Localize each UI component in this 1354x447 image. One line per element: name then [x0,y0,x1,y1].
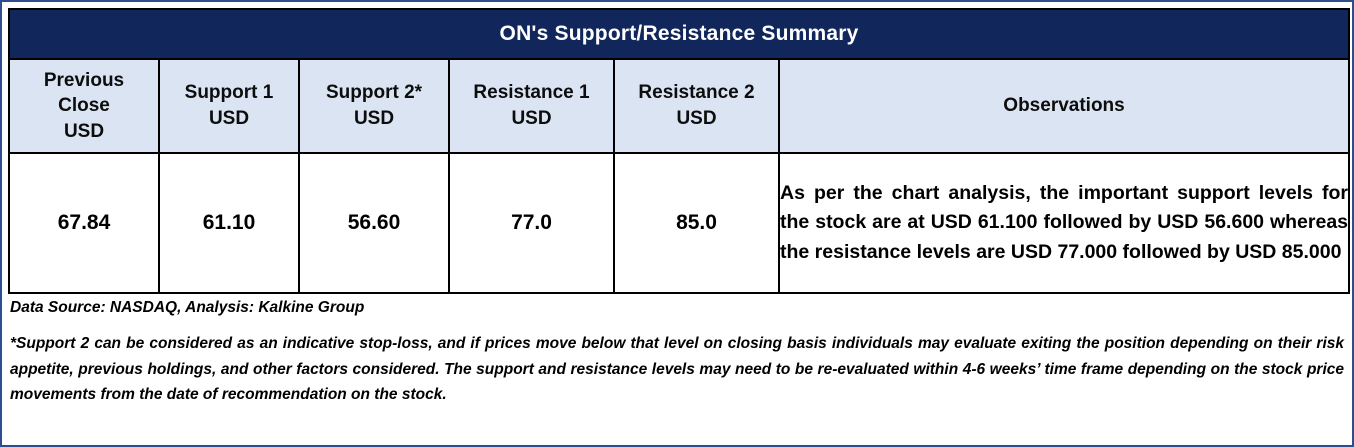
cell-support-1: 61.10 [159,153,299,293]
content-wrapper: ON's Support/Resistance Summary Previous… [8,8,1348,441]
column-header-observations: Observations [779,59,1349,153]
header-line-1: Observations [780,93,1348,119]
cell-support-2: 56.60 [299,153,449,293]
cell-resistance-1: 77.0 [449,153,614,293]
table-row: 67.84 61.10 56.60 77.0 85.0 As per the c… [9,153,1349,293]
table-header-row: Previous Close USD Support 1 USD Support… [9,59,1349,153]
cell-observations: As per the chart analysis, the important… [779,153,1349,293]
cell-previous-close: 67.84 [9,153,159,293]
column-header-resistance-1: Resistance 1 USD [449,59,614,153]
column-header-previous-close: Previous Close USD [9,59,159,153]
data-source-note: Data Source: NASDAQ, Analysis: Kalkine G… [8,299,1348,317]
column-header-resistance-2: Resistance 2 USD [614,59,779,153]
support-2-footnote: *Support 2 can be considered as an indic… [8,331,1348,408]
header-line-1: Support 2* [300,80,448,106]
header-line-1: Resistance 2 [615,80,778,106]
column-header-support-1: Support 1 USD [159,59,299,153]
table-title: ON's Support/Resistance Summary [9,9,1349,59]
header-line-1: Previous [10,68,158,94]
header-line-2: USD [160,106,298,132]
header-line-1: Support 1 [160,80,298,106]
column-header-support-2: Support 2* USD [299,59,449,153]
cell-resistance-2: 85.0 [614,153,779,293]
header-line-3: USD [10,119,158,145]
support-resistance-table: ON's Support/Resistance Summary Previous… [8,8,1350,294]
table-title-row: ON's Support/Resistance Summary [9,9,1349,59]
header-line-2: USD [300,106,448,132]
document-page: ON's Support/Resistance Summary Previous… [0,0,1354,447]
header-line-2: USD [450,106,613,132]
header-line-2: Close [10,93,158,119]
header-line-2: USD [615,106,778,132]
header-line-1: Resistance 1 [450,80,613,106]
